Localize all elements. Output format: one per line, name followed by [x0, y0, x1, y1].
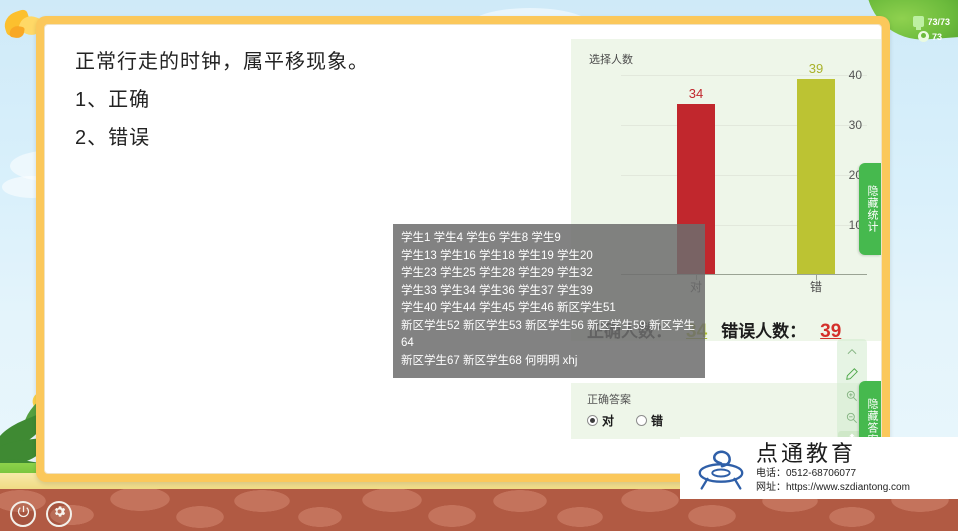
power-icon [16, 504, 31, 524]
radio-option-correct[interactable]: 对 [587, 412, 614, 429]
student-names-tooltip: 学生1 学生4 学生6 学生8 学生9 学生13 学生16 学生18 学生19 … [393, 224, 705, 378]
gear-icon [52, 504, 67, 524]
brand-name: 点通教育 [756, 441, 910, 467]
settings-button[interactable] [46, 501, 72, 527]
student-count-value: 73 [932, 32, 942, 42]
radio-option-wrong[interactable]: 错 [636, 412, 663, 429]
tooltip-line: 学生40 学生44 学生45 学生46 新区学生51 [401, 300, 697, 318]
person-icon [918, 31, 929, 42]
tooltip-line: 新区学生52 新区学生53 新区学生56 新区学生59 新区学生64 [401, 318, 697, 353]
wrong-count-label: 错误人数： [721, 317, 806, 342]
zoom-in-icon [845, 389, 859, 408]
bar-wrong[interactable]: 39 [797, 79, 835, 274]
brand-mark-icon [692, 444, 750, 492]
brand-text: 点通教育 电话：0512-68706077 网址：https://www.szd… [756, 441, 910, 495]
bar-value-correct: 34 [689, 86, 703, 101]
student-count-badge: 73 [918, 31, 942, 42]
tooltip-line: 学生1 学生4 学生6 学生8 学生9 [401, 230, 697, 248]
question-text: 正常行走的时钟，属平移现象。 [75, 43, 595, 81]
brand-website: 网址：https://www.szdiantong.com [756, 481, 910, 495]
radio-option-correct-label: 对 [602, 412, 614, 429]
tooltip-line: 学生13 学生16 学生18 学生19 学生20 [401, 248, 697, 266]
y-tick-30: 30 [849, 118, 862, 132]
radio-option-wrong-label: 错 [651, 412, 663, 429]
tooltip-line: 学生23 学生25 学生28 学生29 学生32 [401, 265, 697, 283]
y-tick-40: 40 [849, 68, 862, 82]
category-label-wrong: 错 [810, 278, 822, 295]
collapse-chevron-icon [845, 345, 859, 364]
question-block: 正常行走的时钟，属平移现象。 1、正确 2、错误 [75, 43, 595, 157]
zoom-out-icon [845, 411, 859, 430]
collapse-toolbar-button[interactable] [839, 343, 865, 365]
radio-dot-icon[interactable] [587, 415, 598, 426]
online-count-value: 73/73 [927, 17, 950, 27]
correct-answer-options: 对 错 [587, 412, 663, 429]
question-option-1: 1、正确 [75, 81, 595, 119]
hide-statistics-tab[interactable]: 隐藏统计 [859, 163, 881, 255]
brand-logo-box: 点通教育 电话：0512-68706077 网址：https://www.szd… [680, 437, 958, 499]
radio-dot-icon[interactable] [636, 415, 647, 426]
pen-icon [845, 367, 859, 386]
power-button[interactable] [10, 501, 36, 527]
monitor-icon [913, 16, 924, 27]
brand-phone: 电话：0512-68706077 [756, 467, 910, 481]
taskbar [10, 501, 72, 527]
tooltip-line: 新区学生67 新区学生68 何明明 xhj [401, 353, 697, 371]
app-root: 73/73 73 [0, 0, 958, 531]
tooltip-line: 学生33 学生34 学生36 学生37 学生39 [401, 283, 697, 301]
correct-answer-block: 正确答案 对 错 [587, 391, 663, 429]
question-option-2: 2、错误 [75, 119, 595, 157]
online-count-badge: 73/73 [913, 16, 950, 27]
chart-title: 选择人数 [589, 51, 633, 67]
bar-value-wrong: 39 [809, 61, 823, 76]
correct-answer-label: 正确答案 [587, 391, 663, 407]
